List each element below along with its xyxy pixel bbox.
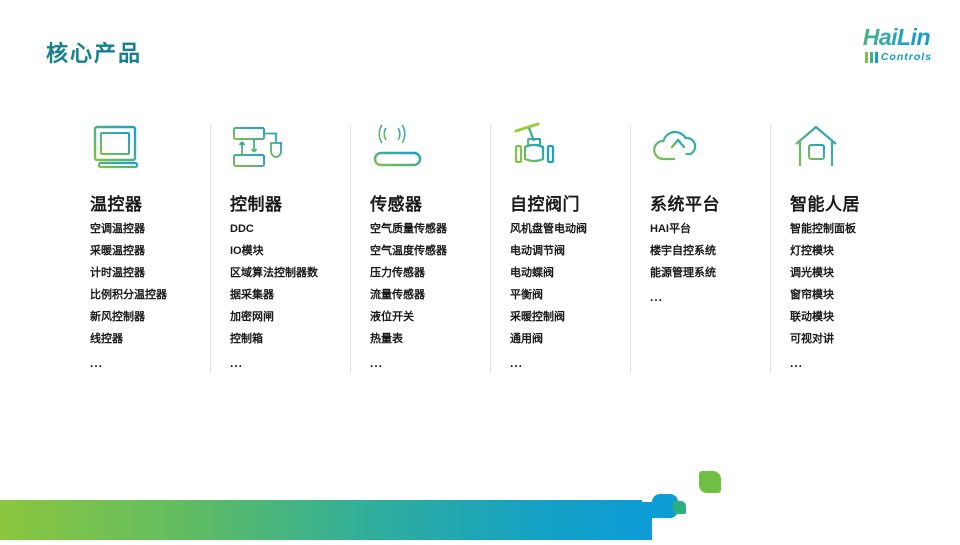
category-title: 自控阀门 bbox=[510, 190, 630, 215]
category-item: 区域算法控制器数 bbox=[230, 268, 350, 279]
category-item: 联动模块 bbox=[790, 312, 910, 323]
logo-wordmark: HaiLin bbox=[812, 26, 932, 49]
category-title: 系统平台 bbox=[650, 190, 770, 215]
category-column-sensor: 传感器 空气质量传感器 空气温度传感器 压力传感器 流量传感器 液位开关 热量表… bbox=[350, 122, 490, 402]
category-item: 热量表 bbox=[370, 334, 490, 345]
footer-hook-shape bbox=[630, 480, 678, 540]
category-item: 计时温控器 bbox=[90, 268, 210, 279]
category-item: 线控器 bbox=[90, 334, 210, 345]
logo-bars-icon bbox=[865, 52, 878, 63]
controller-circuit-icon bbox=[230, 122, 286, 172]
category-item: 可视对讲 bbox=[790, 334, 910, 345]
logo-subline: Controls bbox=[812, 51, 932, 63]
footer-square-green-large bbox=[699, 471, 721, 493]
footer-gradient-bar bbox=[0, 500, 642, 540]
category-item: 压力传感器 bbox=[370, 268, 490, 279]
category-title: 传感器 bbox=[370, 190, 490, 215]
category-item: IO模块 bbox=[230, 246, 350, 257]
category-item: 流量传感器 bbox=[370, 290, 490, 301]
cloud-upload-icon bbox=[650, 122, 706, 172]
category-more-ellipsis: ... bbox=[370, 356, 490, 370]
monitor-thermostat-icon bbox=[90, 122, 146, 172]
category-item: 平衡阀 bbox=[510, 290, 630, 301]
category-item: 据采集器 bbox=[230, 290, 350, 301]
category-column-controller: 控制器 DDC IO模块 区域算法控制器数 据采集器 加密网闸 控制箱 ... bbox=[210, 122, 350, 402]
footer-square-teal-small bbox=[673, 501, 686, 514]
category-item: 控制箱 bbox=[230, 334, 350, 345]
category-title: 智能人居 bbox=[790, 190, 910, 215]
category-item: 新风控制器 bbox=[90, 312, 210, 323]
category-column-smart-home: 智能人居 智能控制面板 灯控模块 调光模块 窗帘模块 联动模块 可视对讲 ... bbox=[770, 122, 910, 402]
category-column-thermostat: 温控器 空调温控器 采暖温控器 计时温控器 比例积分温控器 新风控制器 线控器 … bbox=[70, 122, 210, 402]
category-more-ellipsis: ... bbox=[230, 356, 350, 370]
category-item: 采暖控制阀 bbox=[510, 312, 630, 323]
category-item: 加密网闸 bbox=[230, 312, 350, 323]
category-item: 电动蝶阀 bbox=[510, 268, 630, 279]
category-item: 空调温控器 bbox=[90, 224, 210, 235]
category-item: 窗帘模块 bbox=[790, 290, 910, 301]
wireless-sensor-icon bbox=[370, 122, 426, 172]
category-item: 空气质量传感器 bbox=[370, 224, 490, 235]
valve-icon bbox=[510, 122, 566, 172]
category-more-ellipsis: ... bbox=[90, 356, 210, 370]
category-more-ellipsis: ... bbox=[790, 356, 910, 370]
category-column-platform: 系统平台 HAI平台 楼宇自控系统 能源管理系统 ... bbox=[630, 122, 770, 402]
category-item: 液位开关 bbox=[370, 312, 490, 323]
smart-home-chip-icon bbox=[790, 122, 846, 172]
category-column-valve: 自控阀门 风机盘管电动阀 电动调节阀 电动蝶阀 平衡阀 采暖控制阀 通用阀 ..… bbox=[490, 122, 630, 402]
category-item: 能源管理系统 bbox=[650, 268, 770, 279]
category-item: 楼宇自控系统 bbox=[650, 246, 770, 257]
category-item: 采暖温控器 bbox=[90, 246, 210, 257]
category-more-ellipsis: ... bbox=[510, 356, 630, 370]
category-item: 通用阀 bbox=[510, 334, 630, 345]
category-item: HAI平台 bbox=[650, 224, 770, 235]
category-title: 温控器 bbox=[90, 190, 210, 215]
product-category-grid: 温控器 空调温控器 采暖温控器 计时温控器 比例积分温控器 新风控制器 线控器 … bbox=[70, 122, 910, 402]
page-title: 核心产品 bbox=[46, 36, 142, 68]
category-item: 智能控制面板 bbox=[790, 224, 910, 235]
category-item: 风机盘管电动阀 bbox=[510, 224, 630, 235]
category-title: 控制器 bbox=[230, 190, 350, 215]
category-item: 空气温度传感器 bbox=[370, 246, 490, 257]
category-item: 比例积分温控器 bbox=[90, 290, 210, 301]
category-more-ellipsis: ... bbox=[650, 290, 770, 304]
category-item: 灯控模块 bbox=[790, 246, 910, 257]
category-item: 电动调节阀 bbox=[510, 246, 630, 257]
slide-root: 核心产品 HaiLin Controls bbox=[0, 0, 960, 540]
category-item: 调光模块 bbox=[790, 268, 910, 279]
logo-subtext: Controls bbox=[881, 51, 932, 63]
category-item: DDC bbox=[230, 224, 350, 235]
brand-logo: HaiLin Controls bbox=[812, 26, 932, 70]
